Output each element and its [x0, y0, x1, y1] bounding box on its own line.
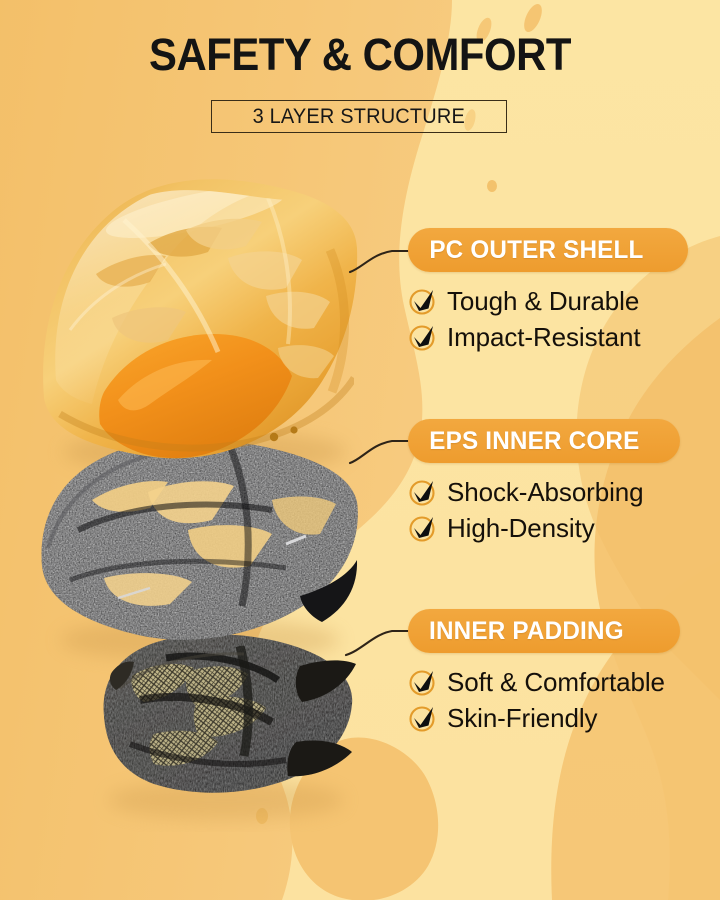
callout-eps-inner-core: EPS INNER CORE Shock-Absorbing [408, 419, 680, 546]
check-icon [408, 322, 438, 352]
feature-label: High-Density [447, 513, 595, 544]
page-title: SAFETY & COMFORT [25, 32, 695, 77]
label-pill-inner-padding: INNER PADDING [408, 609, 680, 653]
helmet-layer-outer-shell [43, 175, 357, 458]
check-icon [408, 513, 438, 543]
helmet-layer-eps-core [41, 439, 357, 640]
helmet-layer-inner-padding [104, 634, 356, 792]
check-icon [408, 286, 438, 316]
feature-item: Shock-Absorbing [408, 474, 680, 510]
infographic-canvas: SAFETY & COMFORT 3 LAYER STRUCTURE PC OU… [0, 0, 720, 900]
subtitle-text: 3 LAYER STRUCTURE [253, 105, 465, 129]
feature-item: Tough & Durable [408, 283, 688, 319]
feature-list-inner-padding: Soft & Comfortable Skin-Friendly [408, 664, 680, 736]
subtitle-box: 3 LAYER STRUCTURE [211, 100, 507, 133]
label-pill-eps-inner-core: EPS INNER CORE [408, 419, 680, 463]
callout-inner-padding: INNER PADDING Soft & Comfortable [408, 609, 680, 736]
pill-label: PC OUTER SHELL [429, 236, 643, 265]
feature-label: Tough & Durable [447, 286, 639, 317]
pill-label: INNER PADDING [429, 617, 624, 646]
feature-list-eps-inner-core: Shock-Absorbing High-Density [408, 474, 680, 546]
pill-label: EPS INNER CORE [429, 427, 639, 456]
callout-pc-outer-shell: PC OUTER SHELL Tough & Durable [408, 228, 688, 355]
feature-item: Impact-Resistant [408, 319, 688, 355]
feature-label: Impact-Resistant [447, 322, 640, 353]
shell-rivet-2 [290, 426, 297, 433]
feature-item: Soft & Comfortable [408, 664, 680, 700]
feature-label: Shock-Absorbing [447, 477, 644, 508]
feature-label: Skin-Friendly [447, 703, 597, 734]
feature-item: High-Density [408, 510, 680, 546]
check-icon [408, 477, 438, 507]
feature-label: Soft & Comfortable [447, 667, 665, 698]
check-icon [408, 667, 438, 697]
check-icon [408, 703, 438, 733]
shell-rivet-1 [270, 433, 278, 441]
feature-list-pc-outer-shell: Tough & Durable Impact-Resistant [408, 283, 688, 355]
feature-item: Skin-Friendly [408, 700, 680, 736]
label-pill-pc-outer-shell: PC OUTER SHELL [408, 228, 688, 272]
